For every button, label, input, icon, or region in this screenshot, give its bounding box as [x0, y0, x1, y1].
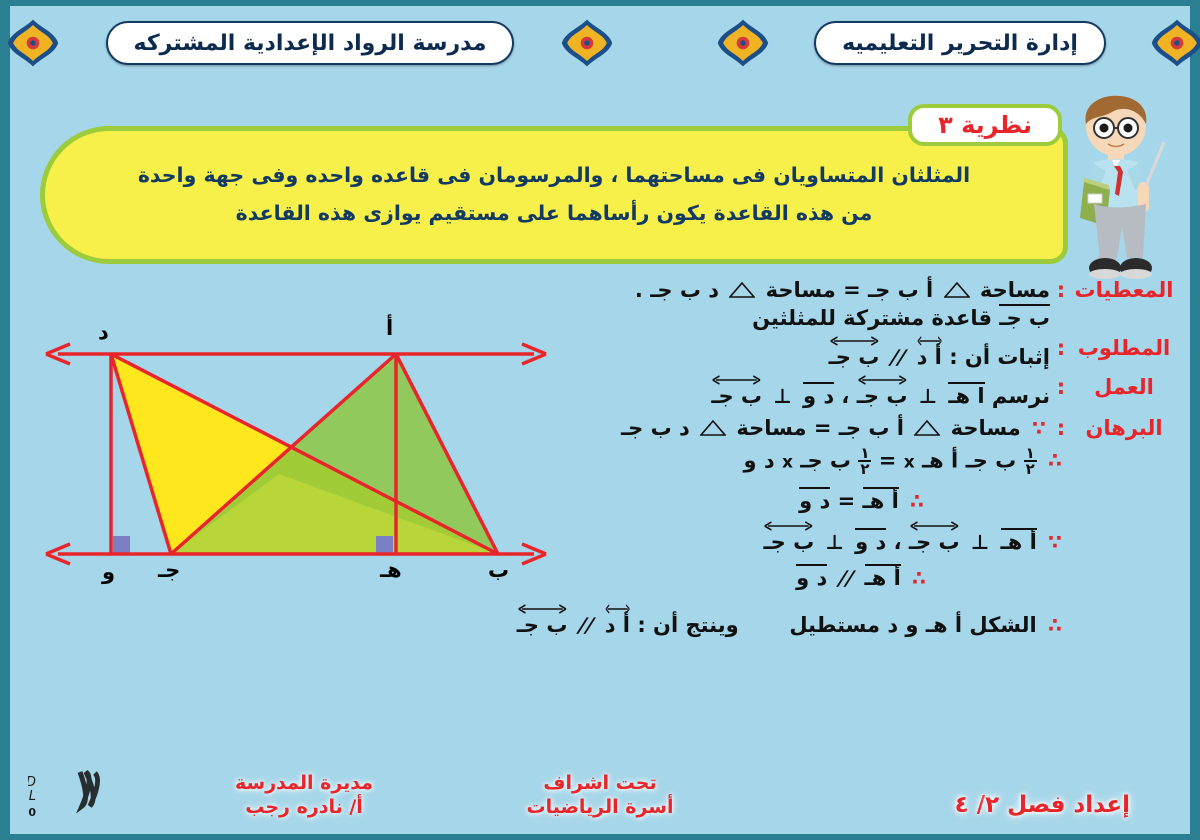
- proof-step-2: ∴ ١ ٢ ب جـ أ هـ x = ١ ٢ ب جـ x د و: [744, 446, 1066, 477]
- ray-bc-text: ب جـ: [711, 384, 762, 408]
- double-arrow-icon: [711, 375, 762, 385]
- proof-row-5: ∴ أ هـ // د و: [576, 564, 1176, 590]
- because-symbol: ∵: [1028, 416, 1050, 440]
- segment-dw-step5: د و: [796, 564, 827, 589]
- proof-step4-comma: ،: [894, 530, 902, 554]
- perpendicular-symbol-2: ⊥: [822, 530, 848, 554]
- theorem-statement-box: المثلثان المتساويان فى مساحتهما ، والمرس…: [40, 126, 1068, 264]
- given-common-base-text: قاعدة مشتركة للمثلثين: [752, 306, 992, 330]
- theorem-number-badge: نظرية ٣: [908, 104, 1062, 146]
- triangle-symbol-icon: [729, 282, 755, 298]
- ray-ad-final: أ د: [605, 604, 630, 636]
- figure-label-a: أ: [386, 316, 393, 340]
- admin-banner-plate: إدارة التحرير التعليميه: [814, 21, 1106, 65]
- construction-draw-word: نرسم: [992, 384, 1050, 408]
- ornament-icon: [6, 16, 60, 70]
- segment-dw-construction: د و: [803, 382, 834, 407]
- proof-step-4: ∵ أ هـ ⊥ ب جـ ، د و ⊥: [763, 521, 1066, 554]
- proof-tag: البرهان: [1072, 416, 1176, 440]
- required-body: إثبات أن : أ د // ب جـ: [829, 336, 1050, 369]
- proof-conclusion-rectangle: الشكل أ هـ و د مستطيل: [789, 613, 1036, 637]
- required-colon: :: [1050, 336, 1072, 360]
- double-arrow-icon: [605, 604, 630, 614]
- given-dbc: د ب جـ .: [635, 278, 719, 302]
- figure-label-g: جـ: [158, 558, 180, 582]
- school-banner: مدرسة الرواد الإعدادية المشتركه: [50, 20, 570, 66]
- ray-bc-text: ب جـ: [857, 384, 908, 408]
- perpendicular-symbol: ⊥: [967, 530, 993, 554]
- fraction-denominator: ٢: [860, 460, 869, 478]
- logo-phone: 010 129 29 580: [28, 806, 36, 819]
- proof-row-2: ∴ ١ ٢ ب جـ أ هـ x = ١ ٢ ب جـ x د و: [576, 446, 1176, 477]
- construction-row: العمل : نرسم ا هـ ⊥ ب جـ ، د و ⊥: [576, 375, 1176, 408]
- proof-step-3: ∴ أ هـ = د و: [799, 487, 928, 513]
- ornament-icon: [716, 16, 770, 70]
- double-arrow-icon: [517, 604, 568, 614]
- proof-step2-dw: د و: [744, 448, 775, 472]
- double-arrow-icon: [763, 521, 814, 531]
- admin-banner-text: إدارة التحرير التعليميه: [842, 31, 1078, 56]
- proof-step1-area-word: مساحة: [951, 416, 1021, 440]
- figure-label-b: ب: [488, 558, 509, 582]
- student-character-illustration: [1068, 86, 1176, 286]
- theorem-number-label: نظرية ٣: [938, 111, 1032, 139]
- logo-line-1: Eng AHMED: [28, 775, 36, 790]
- half-fraction: ١ ٢: [1024, 446, 1037, 477]
- ray-ad-text: أ د: [917, 345, 942, 369]
- segment-dw-step4: د و: [855, 528, 886, 553]
- double-arrow-icon: [909, 521, 960, 531]
- required-prove-that: إثبات أن :: [949, 345, 1050, 369]
- segment-dw-step3: د و: [799, 487, 830, 512]
- figure-label-d: د: [98, 320, 109, 344]
- proof-step2-bc-left: ب جـ: [966, 448, 1017, 472]
- parallel-symbol: //: [831, 566, 861, 590]
- segment-ah-step5: أ هـ: [865, 564, 901, 589]
- ray-bc: ب جـ: [829, 336, 880, 368]
- ray-bc-text: ب جـ: [909, 530, 960, 554]
- right-angle-marker-h: [376, 536, 393, 553]
- therefore-symbol: ∴: [1044, 613, 1066, 637]
- admin-banner: إدارة التحرير التعليميه: [760, 20, 1160, 66]
- proof-step2-bc-right: ب جـ: [800, 448, 851, 472]
- segment-ae: ا هـ: [948, 382, 984, 407]
- proof-row-4: ∵ أ هـ ⊥ ب جـ ، د و ⊥: [576, 521, 1176, 554]
- segment-ah-step4: أ هـ: [1001, 528, 1037, 553]
- construction-comma: ،: [841, 384, 849, 408]
- ray-bc-step4-2: ب جـ: [763, 521, 814, 553]
- school-banner-plate: مدرسة الرواد الإعدادية المشتركه: [106, 21, 515, 65]
- right-angle-marker-w: [113, 536, 130, 553]
- geometry-figure: د أ و جـ هـ ب: [36, 306, 556, 606]
- parallel-symbol: //: [883, 345, 913, 369]
- double-arrow-icon: [857, 375, 908, 385]
- footer-principal: مديرة المدرسة أ/ نادره رجب: [235, 771, 373, 820]
- figure-label-w: و: [102, 560, 115, 584]
- figure-label-h: هـ: [380, 558, 402, 582]
- proof-step-5: ∴ أ هـ // د و: [796, 564, 930, 590]
- designer-logo: Eng AHMED GAMAL 010 129 29 580: [28, 764, 178, 822]
- construction-colon: :: [1050, 375, 1072, 399]
- perpendicular-symbol: ⊥: [915, 384, 941, 408]
- ray-bc-construction-1: ب جـ: [857, 375, 908, 407]
- ray-bc-construction-2: ب جـ: [711, 375, 762, 407]
- times-symbol-2: x: [782, 452, 793, 472]
- perpendicular-symbol-2: ⊥: [769, 384, 795, 408]
- proof-row-3: ∴ أ هـ = د و: [576, 487, 1176, 513]
- ray-ad: أ د: [917, 336, 942, 368]
- given-area-word-1: مساحة: [980, 278, 1050, 302]
- fraction-denominator: ٢: [1026, 460, 1035, 478]
- footer-prepared-by: إعداد فصل ٢/ ٤: [955, 792, 1130, 818]
- footer-prepared-by-text: إعداد فصل ٢/ ٤: [955, 792, 1130, 818]
- footer-principal-line-2: أ/ نادره رجب: [235, 795, 373, 820]
- ray-ad-text: أ د: [605, 613, 630, 637]
- proof-step2-equals: =: [879, 448, 897, 472]
- given-row-2: ب جـ قاعدة مشتركة للمثلثين: [576, 304, 1176, 330]
- ornament-icon: [560, 16, 614, 70]
- given-abc-equals-area: أ ب جـ = مساحة: [766, 278, 934, 302]
- proof-row-1: البرهان : ∵ مساحة أ ب جـ = مساحة د ب جـ: [576, 416, 1176, 440]
- logo-line-2: GAMAL: [28, 789, 36, 804]
- theorem-line-2: من هذه القاعدة يكون رأساهما على مستقيم ي…: [236, 195, 873, 233]
- double-arrow-icon: [917, 336, 942, 346]
- therefore-symbol: ∴: [1044, 448, 1066, 472]
- theorem-line-1: المثلثان المتساويان فى مساحتهما ، والمرس…: [138, 157, 970, 195]
- segment-bc-overline: ب جـ: [999, 304, 1050, 329]
- proof-step2-times-1: أ هـ: [922, 448, 958, 472]
- triangle-symbol-icon: [700, 420, 726, 436]
- school-banner-text: مدرسة الرواد الإعدادية المشتركه: [134, 31, 487, 56]
- construction-body: نرسم ا هـ ⊥ ب جـ ، د و ⊥: [711, 375, 1050, 408]
- given-line-1: مساحة أ ب جـ = مساحة د ب جـ .: [635, 278, 1050, 302]
- ornament-icon: [1150, 16, 1200, 70]
- therefore-symbol: ∴: [906, 489, 928, 513]
- therefore-symbol: ∴: [908, 566, 930, 590]
- ray-bc-step4-1: ب جـ: [909, 521, 960, 553]
- proof-column: المعطيات : مساحة أ ب جـ = مساحة د ب جـ .…: [576, 278, 1176, 639]
- parallel-symbol-final: //: [571, 613, 601, 637]
- required-tag: المطلوب: [1072, 336, 1176, 360]
- half-fraction-2: ١ ٢: [858, 446, 871, 477]
- required-row: المطلوب : إثبات أن : أ د //: [576, 336, 1176, 369]
- poster-root: مدرسة الرواد الإعدادية المشتركه إدارة ال…: [0, 0, 1200, 840]
- proof-step1-dbc: د ب جـ: [621, 416, 690, 440]
- times-symbol-1: x: [904, 452, 915, 472]
- triangle-symbol-icon: [944, 282, 970, 298]
- proof-step-1: ∵ مساحة أ ب جـ = مساحة د ب جـ: [621, 416, 1050, 440]
- ray-bc-text: ب جـ: [763, 530, 814, 554]
- ray-bc-final: ب جـ: [517, 604, 568, 636]
- ray-bc-text: ب جـ: [829, 345, 880, 369]
- given-line-2: ب جـ قاعدة مشتركة للمثلثين: [752, 304, 1050, 330]
- proof-step1-abc: أ ب جـ = مساحة: [736, 416, 904, 440]
- construction-tag: العمل: [1072, 375, 1176, 399]
- segment-ah-step3: أ هـ: [863, 487, 899, 512]
- proof-step3-equals: =: [838, 489, 856, 513]
- proof-step-6: ∴ الشكل أ هـ و د مستطيل وينتج أن : أ د /…: [517, 604, 1066, 637]
- proof-row-6: ∴ الشكل أ هـ و د مستطيل وينتج أن : أ د /…: [576, 604, 1176, 637]
- footer-principal-line-1: مديرة المدرسة: [235, 771, 373, 796]
- because-symbol: ∵: [1044, 530, 1066, 554]
- ray-bc-text: ب جـ: [517, 613, 568, 637]
- triangle-symbol-icon: [914, 420, 940, 436]
- proof-result-prefix: وينتج أن :: [637, 613, 738, 637]
- double-arrow-icon: [829, 336, 880, 346]
- proof-colon: :: [1050, 416, 1072, 440]
